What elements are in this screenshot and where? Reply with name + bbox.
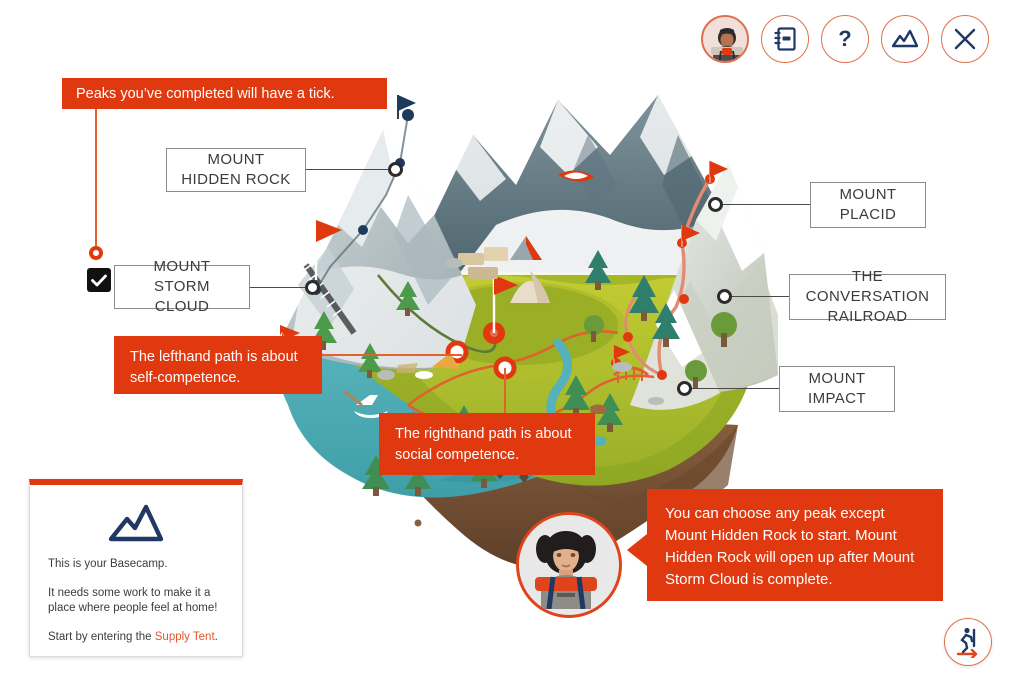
leader-placid [721,204,811,205]
leader-hidden-rock [305,169,395,170]
close-icon [954,28,976,50]
callout-lefthand-connector [322,354,462,356]
map-overview-button[interactable] [881,15,929,63]
screen-root: ? Peaks you’ve completed will have a tic… [0,0,1014,684]
guide-avatar[interactable] [516,512,622,618]
check-icon [91,274,107,287]
callout-lefthand-path: The lefthand path is about self-competen… [114,336,322,394]
peak-label-hidden-rock[interactable]: MOUNT HIDDEN ROCK [166,148,306,192]
peak-label-line1: MOUNT [208,150,265,170]
peak-label-line2: HIDDEN ROCK [181,170,290,190]
callout-tick: Peaks you’ve completed will have a tick. [62,78,387,109]
basecamp-line-3-suffix: . [215,631,218,643]
basecamp-line-3: Start by entering the Supply Tent. [48,630,224,645]
peak-label-conversation-railroad[interactable]: THE CONVERSATION RAILROAD [789,274,946,320]
basecamp-line-3-prefix: Start by entering the [48,631,155,643]
leader-conversation-railroad [730,296,790,297]
basecamp-logo [48,503,224,543]
peak-label-impact[interactable]: MOUNT IMPACT [779,366,895,412]
peak-label-storm-cloud[interactable]: MOUNT STORM CLOUD [114,265,250,309]
question-mark-icon: ? [838,26,851,52]
next-button[interactable] [944,618,992,666]
peak-label-line2: RAILROAD [828,307,908,327]
avatar-icon [519,515,613,609]
peak-node-placid[interactable] [708,197,723,212]
peak-label-line1: MOUNT [809,369,866,389]
peak-node-conversation-railroad[interactable] [717,289,732,304]
peak-label-line1: THE CONVERSATION [800,267,935,307]
peak-label-line1: MOUNT [154,257,211,277]
mountain-icon [892,29,918,49]
callout-righthand-connector [504,368,506,413]
peak-node-hidden-rock[interactable] [388,162,403,177]
peak-node-storm-cloud[interactable] [305,280,320,295]
callout-choose-peak: You can choose any peak except Mount Hid… [647,489,943,601]
peak-label-line2: STORM CLOUD [125,277,239,317]
peak-label-line1: MOUNT [840,185,897,205]
basecamp-card[interactable]: This is your Basecamp. It needs some wor… [29,479,243,657]
callout-righthand-path: The righthand path is about social compe… [379,413,595,475]
callout-tick-connector [95,109,97,254]
basecamp-line-2: It needs some work to make it a place wh… [48,586,224,616]
peak-completed-checkbox[interactable] [87,268,111,292]
peak-label-line2: IMPACT [808,389,866,409]
hiker-next-icon [953,626,983,658]
profile-avatar-button[interactable] [701,15,749,63]
mountain-icon [108,503,164,543]
journal-button[interactable] [761,15,809,63]
peak-label-placid[interactable]: MOUNT PLACID [810,182,926,228]
peak-node-impact[interactable] [677,381,692,396]
close-button[interactable] [941,15,989,63]
help-button[interactable]: ? [821,15,869,63]
callout-choose-peak-tail [627,534,647,566]
basecamp-line-1: This is your Basecamp. [48,557,224,572]
peak-label-line2: PLACID [840,205,897,225]
notebook-icon [774,27,796,51]
avatar-icon [703,17,749,63]
top-toolbar: ? [701,15,989,63]
leader-impact [692,388,780,389]
supply-tent-link[interactable]: Supply Tent [155,631,215,643]
callout-tick-endpoint [89,246,103,260]
